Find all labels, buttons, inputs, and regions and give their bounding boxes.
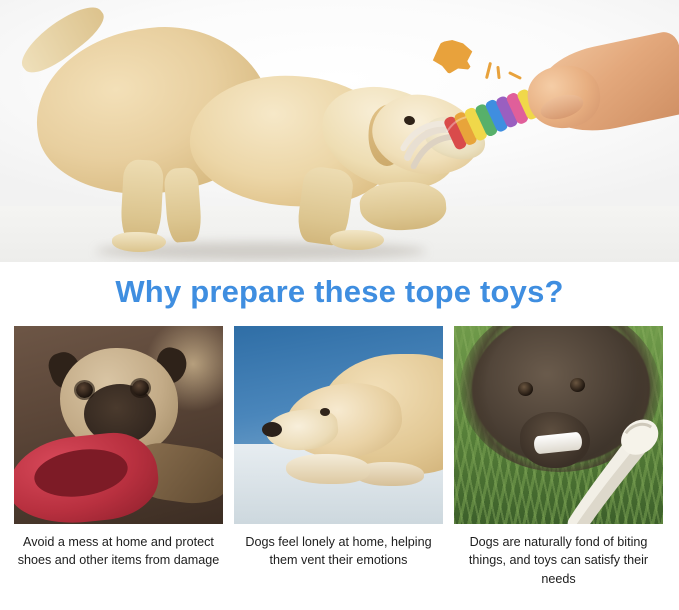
dog-hind-leg-right [163, 167, 202, 243]
dog-hind-leg-left [120, 159, 164, 243]
card-image-pug-shoe: Pug lying next to a chewed red shoe and … [14, 326, 223, 524]
dog-hind-paw [112, 232, 166, 252]
headline-container: Why prepare these tope toys? [0, 266, 679, 318]
hero-image: Large cream-colored labrador dog in a pl… [0, 0, 679, 262]
benefit-card: Small fluffy dog outdoors on grass bitin… [454, 326, 663, 588]
puff-icon [432, 40, 474, 74]
card-caption: Dogs are naturally fond of biting things… [454, 533, 663, 588]
card-caption: Dogs feel lonely at home, helping them v… [234, 533, 443, 570]
card-caption: Avoid a mess at home and protect shoes a… [14, 533, 223, 570]
page-title: Why prepare these tope toys? [115, 274, 563, 310]
card-image-lonely-dog: Golden retriever resting its head on the… [234, 326, 443, 524]
card-image-biting-dog: Small fluffy dog outdoors on grass bitin… [454, 326, 663, 524]
benefit-card-row: Pug lying next to a chewed red shoe and … [14, 326, 665, 588]
benefit-card: Pug lying next to a chewed red shoe and … [14, 326, 223, 588]
dog-front-paw [330, 230, 384, 250]
benefit-card: Golden retriever resting its head on the… [234, 326, 443, 588]
